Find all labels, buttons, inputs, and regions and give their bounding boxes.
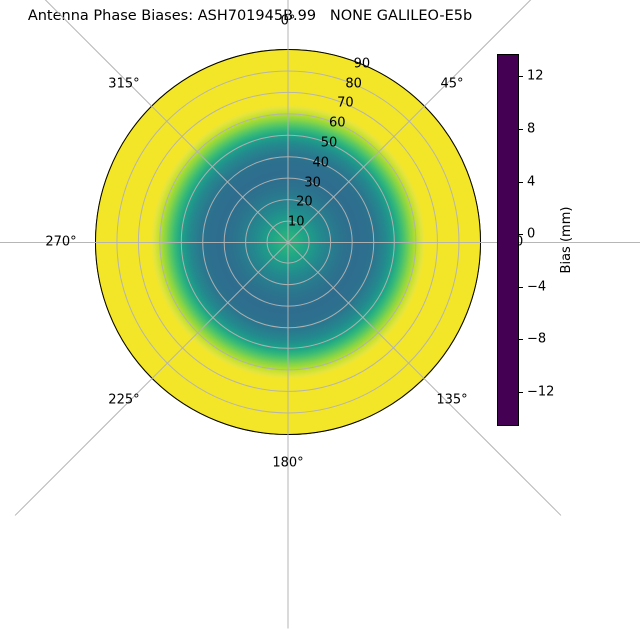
angular-tick-label-180: 180° — [272, 456, 303, 471]
page-title: Antenna Phase Biases: ASH701945B.99 NONE… — [0, 8, 500, 24]
radial-tick-label-50: 50 — [321, 135, 338, 150]
colorbar-tick-mark — [519, 287, 523, 288]
grid-spoke-270 — [0, 242, 288, 243]
colorbar-tick-label: 0 — [527, 227, 535, 242]
colorbar-tick-mark — [519, 182, 523, 183]
radial-tick-label-80: 80 — [345, 76, 362, 91]
angular-tick-label-0: 0° — [281, 14, 296, 29]
matplotlib-figure: Antenna Phase Biases: ASH701945B.99 NONE… — [0, 0, 640, 480]
grid-spoke-0 — [288, 0, 289, 243]
angular-tick-label-270: 270° — [45, 235, 76, 250]
radial-tick-label-20: 20 — [296, 195, 313, 210]
colorbar-tick-label: 8 — [527, 121, 535, 136]
colorbar-tick-label: −12 — [527, 384, 554, 399]
polar-axes: 102030405060708090 — [95, 49, 481, 435]
grid-spoke-180 — [288, 243, 289, 629]
colorbar-gradient — [497, 54, 519, 426]
angular-tick-label-315: 315° — [108, 76, 139, 91]
radial-tick-label-90: 90 — [354, 56, 371, 71]
colorbar-tick-label: 12 — [527, 69, 544, 84]
angular-tick-label-225: 225° — [108, 393, 139, 408]
radial-tick-label-70: 70 — [337, 96, 354, 111]
colorbar-label: Bias (mm) — [559, 207, 574, 274]
angular-tick-label-45: 45° — [440, 76, 463, 91]
colorbar-tick-mark — [519, 129, 523, 130]
colorbar-tick-label: −4 — [527, 279, 546, 294]
angular-tick-label-135: 135° — [436, 393, 467, 408]
colorbar: 12840−4−8−12 Bias (mm) — [497, 54, 617, 426]
colorbar-tick-label: −8 — [527, 332, 546, 347]
radial-tick-label-10: 10 — [288, 215, 305, 230]
radial-tick-label-40: 40 — [313, 155, 330, 170]
radial-tick-label-60: 60 — [329, 116, 346, 131]
colorbar-tick-mark — [519, 392, 523, 393]
colorbar-tick-mark — [519, 339, 523, 340]
colorbar-tick-label: 4 — [527, 174, 535, 189]
radial-tick-label-30: 30 — [304, 175, 321, 190]
colorbar-tick-mark — [519, 76, 523, 77]
colorbar-tick-mark — [519, 234, 523, 235]
